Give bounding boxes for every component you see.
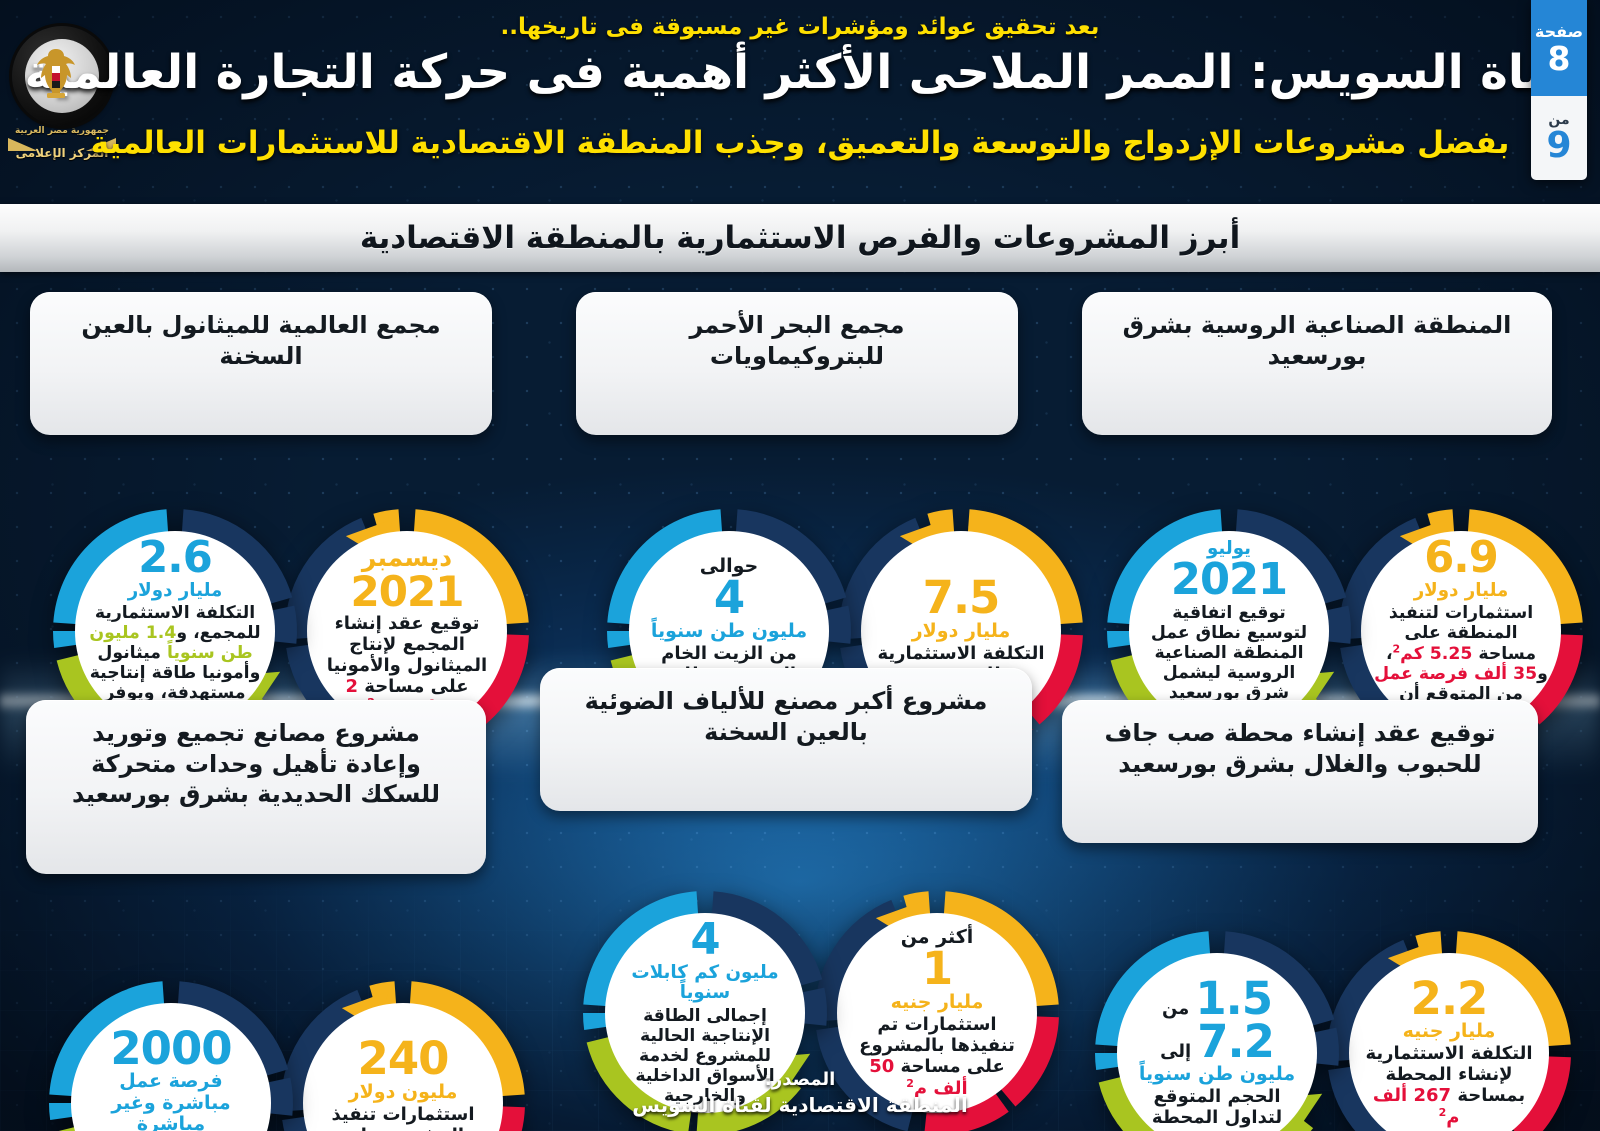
donut-range-to: 7.2 إلى bbox=[1160, 1020, 1274, 1063]
card-title: مشروع أكبر مصنع للألياف الضوئية بالعين ا… bbox=[566, 686, 1006, 747]
range-from-value: 1.5 bbox=[1195, 977, 1272, 1020]
total-pages: 9 bbox=[1546, 128, 1571, 164]
card-header-panel: مجمع العالمية للميثانول بالعين السخنة bbox=[30, 292, 492, 435]
donut-value: 6.9 bbox=[1424, 538, 1498, 579]
eagle-emblem-icon bbox=[34, 46, 78, 102]
range-from-label: من bbox=[1162, 998, 1189, 1019]
header: جمهورية مصر العربية المركز الإعلامى بعد … bbox=[0, 0, 1600, 196]
section-banner-text: أبرز المشروعات والفرص الاستثمارية بالمنط… bbox=[360, 220, 1240, 256]
card-header-panel: مجمع البحر الأحمر للبتروكيماويات bbox=[576, 292, 1018, 435]
donut-year: 2021 bbox=[351, 572, 464, 612]
source-name: المنطقة الاقتصادية لقناة السويس bbox=[0, 1093, 1600, 1117]
range-to-label: إلى bbox=[1160, 1041, 1191, 1062]
donut-value: 2.2 bbox=[1411, 977, 1488, 1020]
donut-value: 7.5 bbox=[923, 576, 1000, 619]
card-header-panel: مشروع مصانع تجميع وتوريد وإعادة تأهيل وح… bbox=[26, 700, 486, 874]
donut-value: 4 bbox=[714, 576, 744, 619]
donut-year: 2021 bbox=[1171, 560, 1287, 601]
donut-unit: مليار جنيه bbox=[1403, 1021, 1496, 1042]
source-label: المصدر: bbox=[0, 1069, 1600, 1090]
donut-unit: مليون كم كابلات سنوياً bbox=[618, 963, 792, 1004]
page-indicator-badge: صفحة 8 من 9 bbox=[1531, 0, 1587, 185]
range-to-value: 7.2 bbox=[1197, 1020, 1274, 1063]
card-header-panel: مشروع أكبر مصنع للألياف الضوئية بالعين ا… bbox=[540, 668, 1032, 811]
donut-unit: مليار دولار bbox=[912, 621, 1011, 642]
donut-value: 4 bbox=[690, 920, 719, 961]
card-title: مجمع العالمية للميثانول بالعين السخنة bbox=[56, 310, 466, 371]
page-subtitle: بفضل مشروعات الإزدواج والتوسعة والتعميق،… bbox=[0, 126, 1600, 162]
card-header-panel: توقيع عقد إنشاء محطة صب جاف للحبوب والغل… bbox=[1062, 700, 1538, 843]
donut-range-from: 1.5 من bbox=[1162, 977, 1272, 1020]
donut-value: 2000 bbox=[110, 1027, 231, 1070]
header-kicker: بعد تحقيق عوائد ومؤشرات غير مسبوقة فى تا… bbox=[0, 14, 1600, 40]
donut-unit: مليون طن سنوياً bbox=[651, 621, 807, 642]
page-word: صفحة bbox=[1535, 22, 1583, 41]
page-indicator-total: من 9 bbox=[1531, 96, 1587, 180]
page-number: 8 bbox=[1548, 42, 1571, 75]
card-title: المنطقة الصناعية الروسية بشرق بورسعيد bbox=[1108, 310, 1526, 371]
section-banner: أبرز المشروعات والفرص الاستثمارية بالمنط… bbox=[0, 204, 1600, 272]
card-title: مجمع البحر الأحمر للبتروكيماويات bbox=[602, 310, 992, 371]
card-title: توقيع عقد إنشاء محطة صب جاف للحبوب والغل… bbox=[1088, 718, 1512, 779]
donut-unit: مليار جنيه bbox=[891, 992, 984, 1013]
page-indicator-current: صفحة 8 bbox=[1531, 0, 1587, 96]
donut-value: 1 bbox=[922, 947, 952, 990]
source-footer: المصدر: المنطقة الاقتصادية لقناة السويس bbox=[0, 1069, 1600, 1117]
page-title: قناة السويس: الممر الملاحى الأكثر أهمية … bbox=[0, 48, 1600, 99]
donut-unit: مليار دولار bbox=[1414, 581, 1509, 601]
card-title: مشروع مصانع تجميع وتوريد وإعادة تأهيل وح… bbox=[52, 718, 460, 810]
card-header-panel: المنطقة الصناعية الروسية بشرق بورسعيد bbox=[1082, 292, 1552, 435]
donut-value: 2.6 bbox=[138, 538, 212, 579]
donut-unit: مليار دولار bbox=[128, 581, 223, 601]
